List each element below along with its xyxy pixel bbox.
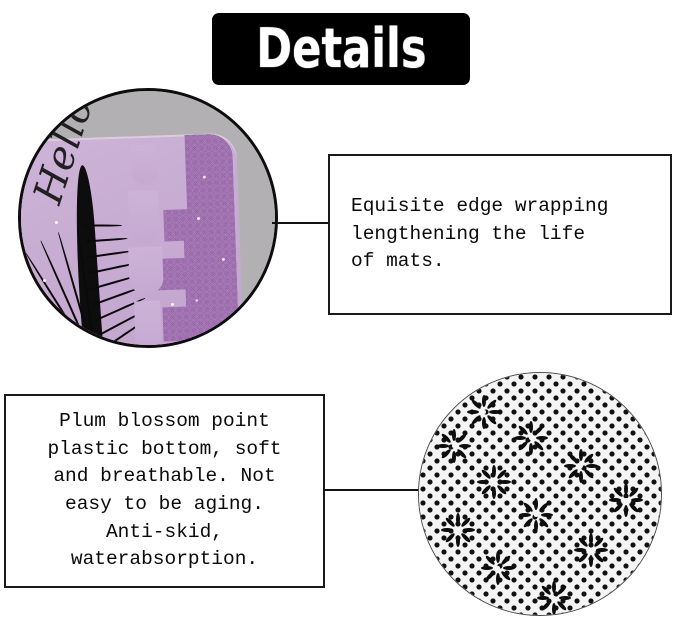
blossom-core	[452, 444, 456, 448]
blossom-petal	[496, 551, 500, 563]
callout-plastic-bottom-text: Plum blossom point plastic bottom, soft …	[16, 408, 313, 574]
blossom-petal	[534, 498, 538, 510]
blossom-petal	[533, 440, 544, 451]
blossom-petal	[579, 449, 583, 461]
blossom-petal	[538, 502, 549, 513]
blossom-petal	[459, 444, 471, 448]
blossom-core	[624, 498, 628, 502]
blossom-petal	[628, 502, 639, 513]
blossom-petal	[482, 417, 486, 429]
details-title-banner: Details	[212, 13, 470, 85]
blossom-petal	[485, 570, 496, 581]
plum-blossom	[467, 395, 501, 429]
dotted-texture	[419, 373, 661, 615]
blossom-petal	[481, 484, 492, 495]
blossom-petal	[541, 513, 553, 517]
blossom-petal	[559, 596, 571, 600]
blossom-petal	[583, 453, 594, 464]
blossom-petal	[556, 585, 567, 596]
blossom-petal	[486, 399, 497, 410]
blossom-petal	[596, 548, 608, 552]
blossom-petal	[500, 555, 511, 566]
plum-blossom	[609, 483, 643, 517]
blossom-petal	[500, 570, 511, 581]
plum-blossom	[481, 551, 515, 585]
connector-line-top	[272, 222, 330, 224]
blossom-petal	[628, 487, 639, 498]
blossom-petal	[452, 429, 456, 441]
blossom-petal	[481, 566, 493, 570]
blossom-petal	[593, 537, 604, 548]
glitter-drip-gap	[128, 246, 164, 293]
plum-blossom	[574, 533, 608, 567]
blossom-petal	[537, 596, 549, 600]
blossom-petal	[564, 464, 576, 468]
blossom-petal	[445, 517, 456, 528]
blossom-petal	[471, 414, 482, 425]
blossom-petal	[613, 502, 624, 513]
blossom-petal	[467, 410, 479, 414]
plum-blossom	[537, 581, 571, 615]
sparkle	[43, 279, 46, 282]
blossom-petal	[624, 505, 628, 517]
blossom-petal	[529, 443, 533, 455]
blossom-petal	[460, 517, 471, 528]
blossom-petal	[456, 448, 467, 459]
glitter-drip-gap	[128, 190, 160, 243]
blossom-petal	[538, 517, 549, 528]
callout-edge-wrapping: Equisite edge wrapping lengthening the l…	[328, 154, 672, 315]
blossom-petal	[456, 535, 460, 547]
blossom-petal	[586, 464, 598, 468]
blossom-petal	[593, 552, 604, 563]
blossom-petal	[492, 487, 496, 499]
blossom-petal	[518, 440, 529, 451]
blossom-petal	[574, 548, 586, 552]
plum-blossom	[477, 465, 511, 499]
blossom-core	[552, 596, 556, 600]
glitter-drip-gap	[134, 301, 162, 348]
blossom-petal	[514, 436, 526, 440]
plum-blossom	[514, 421, 548, 455]
blossom-core	[534, 513, 538, 517]
blossom-petal	[589, 533, 593, 545]
sparkle	[81, 331, 84, 334]
blossom-petal	[613, 487, 624, 498]
blossom-petal	[482, 395, 486, 407]
blossom-petal	[441, 433, 452, 444]
blossom-petal	[529, 421, 533, 433]
blossom-petal	[441, 528, 453, 532]
blossom-petal	[496, 484, 507, 495]
page-title: Details	[256, 22, 426, 76]
blossom-petal	[533, 425, 544, 436]
blossom-core	[496, 566, 500, 570]
blossom-petal	[609, 498, 621, 502]
blossom-petal	[568, 453, 579, 464]
blossom-petal	[523, 502, 534, 513]
plum-blossom	[437, 429, 471, 463]
mat-photo-content: Hello	[21, 91, 275, 345]
blossom-petal	[556, 600, 567, 611]
blossom-petal	[523, 517, 534, 528]
blossom-petal	[499, 480, 511, 484]
blossom-petal	[578, 552, 589, 563]
blossom-petal	[460, 532, 471, 543]
blossom-petal	[452, 451, 456, 463]
blossom-petal	[541, 600, 552, 611]
glitter-drip-gap	[130, 145, 157, 186]
details-infographic: Details	[0, 0, 679, 619]
blossom-petal	[589, 555, 593, 567]
plum-blossom	[564, 449, 598, 483]
blossom-petal	[552, 603, 556, 615]
callout-plastic-bottom: Plum blossom point plastic bottom, soft …	[4, 394, 325, 588]
plum-blossom-bottom-photo	[418, 372, 662, 616]
blossom-petal	[496, 469, 507, 480]
blossom-petal	[492, 465, 496, 477]
blossom-petal	[583, 468, 594, 479]
blossom-petal	[437, 444, 449, 448]
blossom-petal	[518, 425, 529, 436]
sparkle	[55, 221, 58, 224]
blossom-petal	[485, 555, 496, 566]
sparkle	[171, 303, 174, 306]
blossom-petal	[445, 532, 456, 543]
blossom-petal	[471, 399, 482, 410]
blossom-core	[589, 548, 593, 552]
plum-blossom	[441, 513, 475, 547]
blossom-petal	[534, 520, 538, 532]
plum-blossom	[519, 498, 553, 532]
blossom-petal	[536, 436, 548, 440]
blossom-core	[579, 464, 583, 468]
blossom-petal	[486, 414, 497, 425]
connector-line-bottom	[324, 489, 432, 491]
blossom-petal	[441, 448, 452, 459]
blossom-petal	[579, 471, 583, 483]
blossom-petal	[477, 480, 489, 484]
blossom-petal	[519, 513, 531, 517]
mat-edge-closeup-photo: Hello	[18, 88, 278, 348]
blossom-core	[482, 410, 486, 414]
blossom-petal	[463, 528, 475, 532]
blossom-petal	[456, 433, 467, 444]
blossom-petal	[624, 483, 628, 495]
blossom-core	[456, 528, 460, 532]
sparkle	[197, 217, 200, 220]
blossom-petal	[496, 573, 500, 585]
blossom-petal	[552, 581, 556, 593]
lash-hair	[84, 225, 122, 227]
callout-edge-wrapping-text: Equisite edge wrapping lengthening the l…	[351, 193, 670, 276]
blossom-petal	[456, 513, 460, 525]
blossom-petal	[503, 566, 515, 570]
blossom-core	[529, 436, 533, 440]
blossom-petal	[568, 468, 579, 479]
blossom-petal	[631, 498, 643, 502]
blossom-petal	[541, 585, 552, 596]
blossom-core	[492, 480, 496, 484]
blossom-petal	[578, 537, 589, 548]
blossom-petal	[481, 469, 492, 480]
blossom-petal	[489, 410, 501, 414]
